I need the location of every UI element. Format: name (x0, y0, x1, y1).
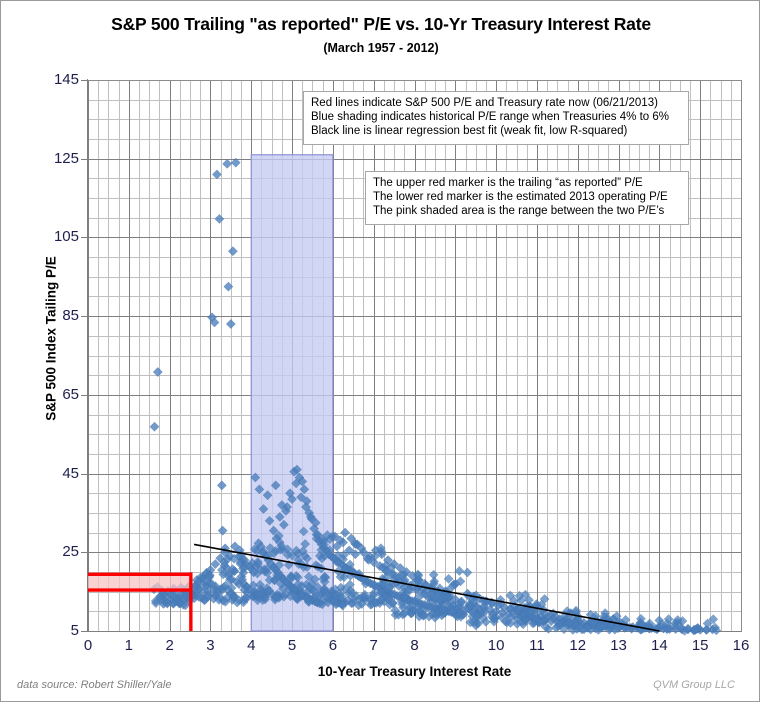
x-axis-ticks: 012345678910111213141516 (1, 637, 762, 663)
y-tick-label: 145 (35, 71, 79, 88)
x-tick-label: 3 (190, 637, 230, 654)
y-axis-ticks: 525456585105125145 (1, 1, 79, 705)
x-tick-label: 1 (109, 637, 149, 654)
x-tick-label: 6 (313, 637, 353, 654)
plot-border (88, 80, 742, 632)
x-tick-label: 2 (150, 637, 190, 654)
annotation-2-line-3: The pink shaded area is the range betwee… (373, 204, 681, 218)
annotation-box-markers: The upper red marker is the trailing “as… (365, 171, 689, 225)
plot-area (88, 80, 741, 631)
annotation-box-legend: Red lines indicate S&P 500 P/E and Treas… (303, 91, 689, 145)
y-axis-title: S&P 500 Index Tailing P/E (44, 189, 59, 489)
x-tick-label: 16 (721, 637, 761, 654)
chart-frame: S&P 500 Trailing "as reported" P/E vs. 1… (0, 0, 760, 702)
annotation-1-line-2: Blue shading indicates historical P/E ra… (311, 110, 681, 124)
x-tick-label: 13 (599, 637, 639, 654)
annotation-1-line-1: Red lines indicate S&P 500 P/E and Treas… (311, 96, 681, 110)
x-tick-label: 7 (354, 637, 394, 654)
y-tick-label: 25 (35, 543, 79, 560)
y-tick-label: 125 (35, 150, 79, 167)
x-tick-label: 4 (231, 637, 271, 654)
x-tick-label: 12 (558, 637, 598, 654)
x-tick-label: 15 (680, 637, 720, 654)
x-tick-label: 11 (517, 637, 557, 654)
data-source-note: data source: Robert Shiller/Yale (17, 679, 172, 691)
x-tick-label: 0 (68, 637, 108, 654)
x-axis-title: 10-Year Treasury Interest Rate (88, 664, 741, 679)
annotation-2-line-1: The upper red marker is the trailing “as… (373, 176, 681, 190)
chart-subtitle: (March 1957 - 2012) (1, 41, 761, 55)
x-tick-label: 14 (639, 637, 679, 654)
credit-note: QVM Group LLC (653, 679, 735, 691)
annotation-1-line-3: Black line is linear regression best fit… (311, 124, 681, 138)
x-tick-label: 8 (395, 637, 435, 654)
annotation-2-line-2: The lower red marker is the estimated 20… (373, 190, 681, 204)
x-tick-label: 5 (272, 637, 312, 654)
x-tick-label: 9 (435, 637, 475, 654)
chart-title: S&P 500 Trailing "as reported" P/E vs. 1… (1, 14, 761, 35)
x-tick-label: 10 (476, 637, 516, 654)
